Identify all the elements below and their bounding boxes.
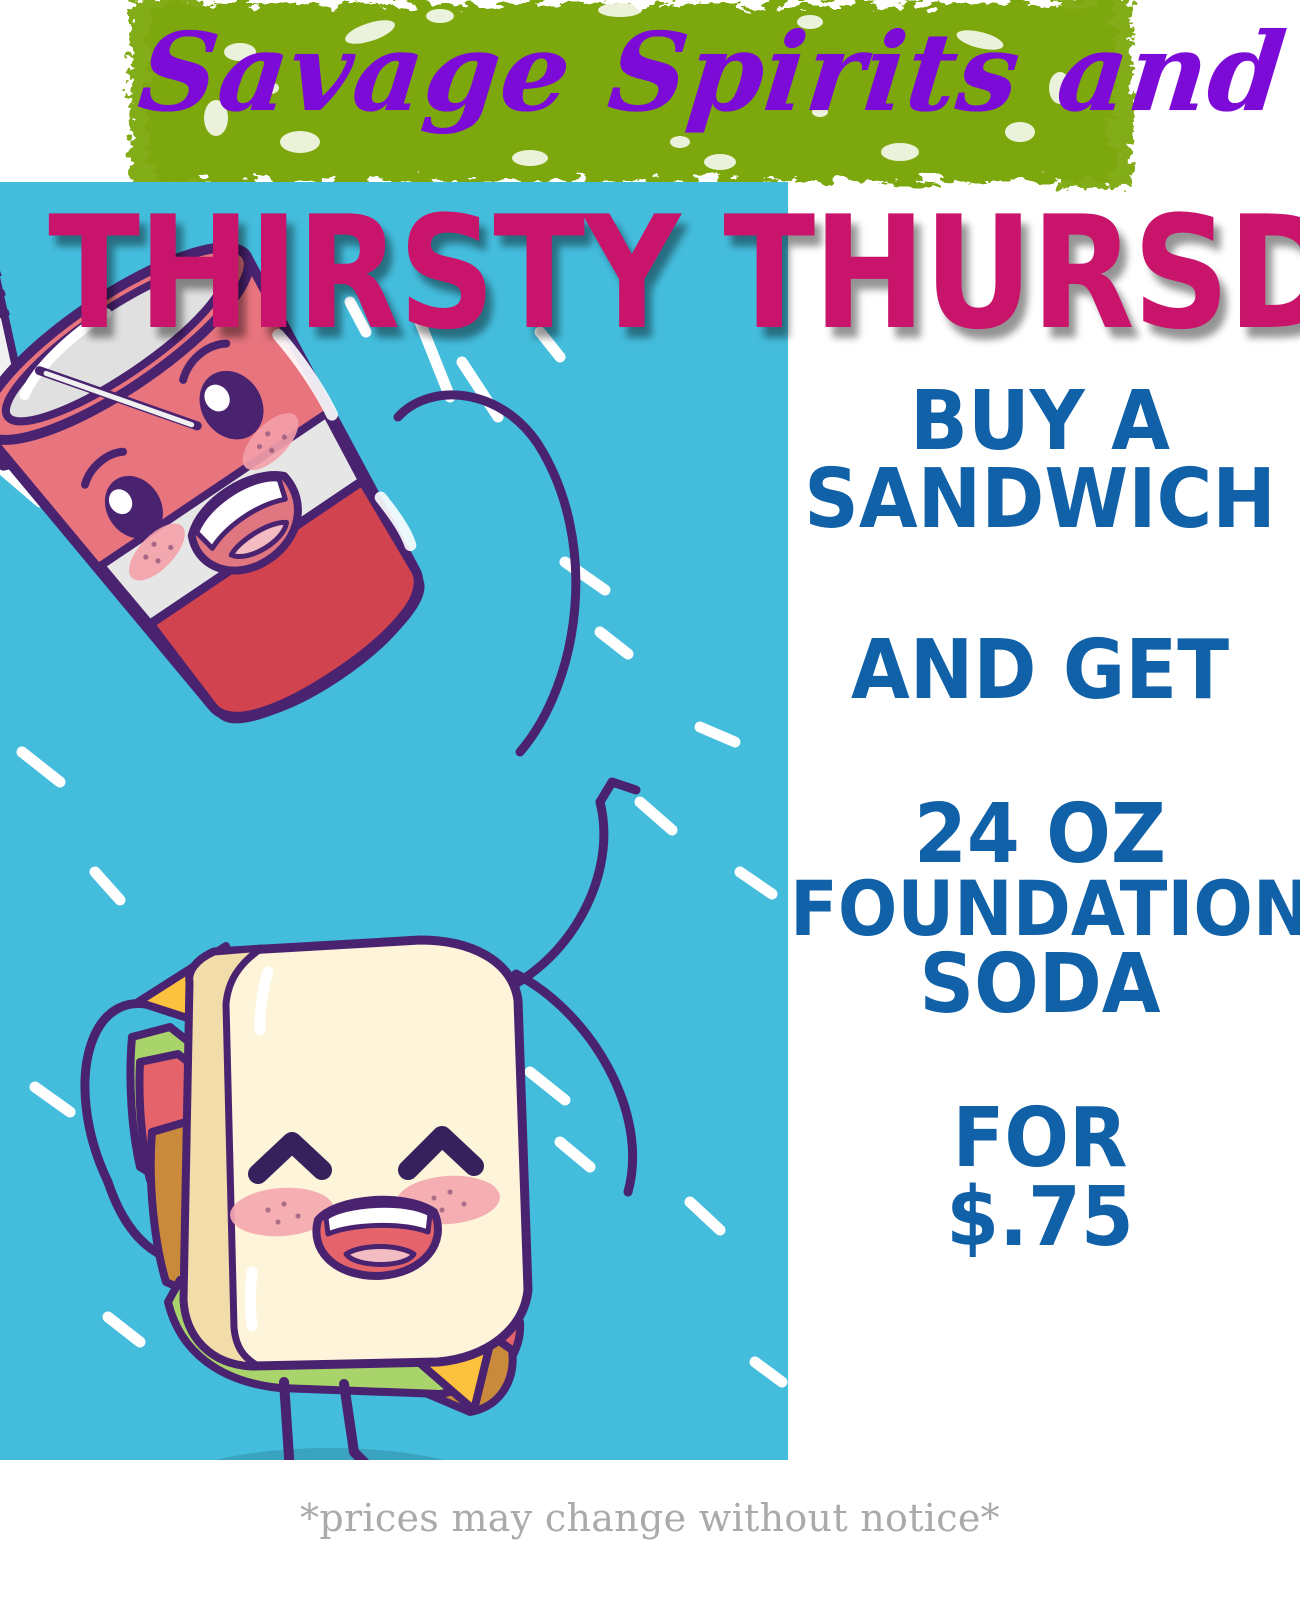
offer-gap-3 <box>790 1023 1290 1099</box>
offer-group-and-get: AND GET <box>790 631 1290 709</box>
offer-line-price: $.75 <box>790 1175 1290 1260</box>
offer-line-sandwich: SANDWICH <box>790 457 1290 542</box>
brand-name: Savage Spirits and Deli <box>133 6 1127 141</box>
offer-group-price: FOR $.75 <box>790 1099 1290 1256</box>
offer-gap-2 <box>790 709 1290 795</box>
offer-group-buy: BUY A SANDWICH <box>790 382 1290 539</box>
offer-gap-1 <box>790 539 1290 631</box>
offer-group-soda: 24 OZ FOUNDATION SODA <box>790 795 1290 1024</box>
headline-thirsty-thursday: THIRSTY THURSDAY <box>48 196 1252 352</box>
brand-banner: Savage Spirits and Deli <box>140 0 1120 182</box>
price-disclaimer: *prices may change without notice* <box>0 1496 1300 1540</box>
sandwich-character <box>130 940 528 1460</box>
offer-text-block: BUY A SANDWICH AND GET 24 OZ FOUNDATION … <box>790 382 1290 1256</box>
offer-line-and-get: AND GET <box>790 627 1290 712</box>
soda-and-sandwich-illustration <box>0 182 788 1460</box>
illustration-panel <box>0 182 788 1460</box>
offer-line-24-oz: 24 OZ <box>790 792 1290 877</box>
offer-line-soda: SODA <box>790 942 1290 1027</box>
character-shadow <box>135 1448 525 1460</box>
poster-root: Savage Spirits and Deli <box>0 0 1300 1600</box>
